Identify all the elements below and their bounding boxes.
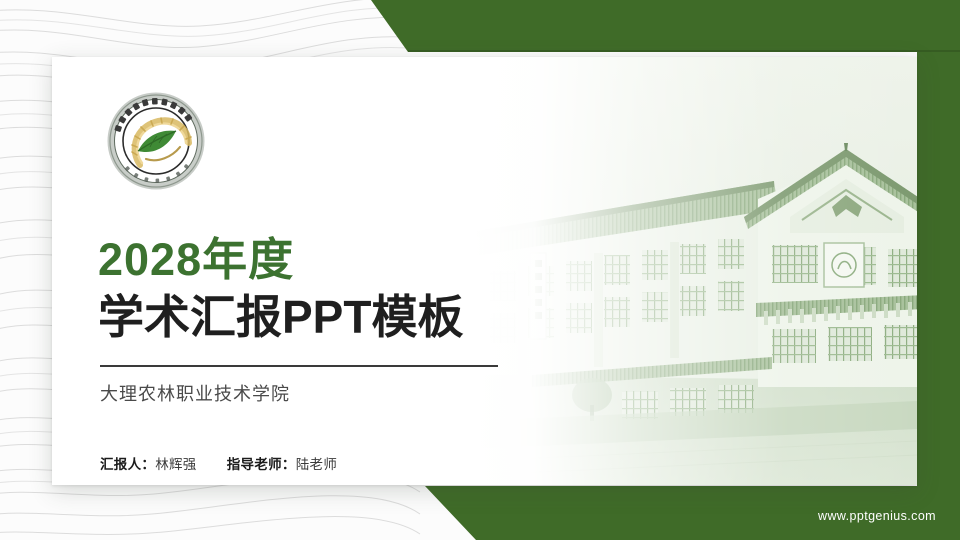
campus-building-photo [472, 57, 917, 485]
year-heading: 2028年度 [98, 235, 528, 285]
footer-website-url[interactable]: www.pptgenius.com [818, 509, 936, 523]
title-card: 2028年度 学术汇报PPT模板 大理农林职业技术学院 汇报人：林辉强 指导老师… [52, 57, 917, 485]
organization-name: 大理农林职业技术学院 [100, 380, 528, 406]
advisor-name: 陆老师 [296, 457, 337, 472]
page-title: 学术汇报PPT模板 [98, 291, 528, 344]
college-logo [96, 81, 216, 201]
presentation-slide: 2028年度 学术汇报PPT模板 大理农林职业技术学院 汇报人：林辉强 指导老师… [0, 0, 960, 540]
title-divider [100, 365, 498, 367]
reporter-name: 林辉强 [155, 457, 196, 472]
advisor-label: 指导老师： [227, 457, 296, 472]
reporter-label: 汇报人： [100, 457, 155, 472]
presenter-info: 汇报人：林辉强 指导老师：陆老师 [100, 453, 337, 473]
title-text-block: 2028年度 学术汇报PPT模板 大理农林职业技术学院 [98, 235, 528, 406]
